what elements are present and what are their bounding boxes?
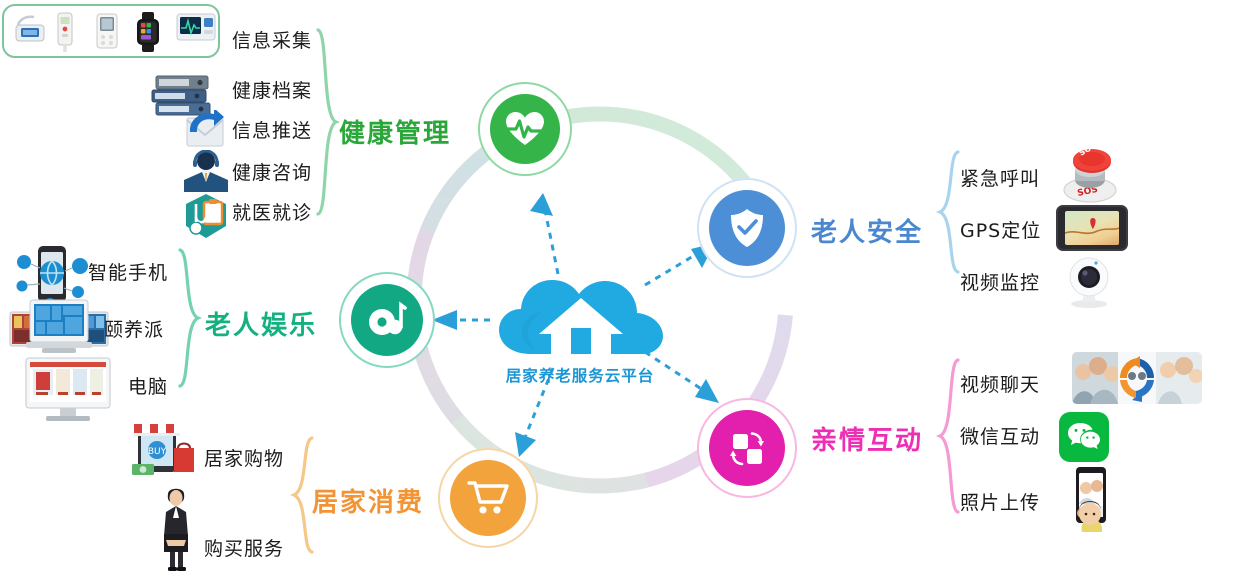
shopping-cart-icon	[450, 460, 526, 536]
exchange-icon	[709, 410, 785, 486]
node-health[interactable]	[478, 82, 572, 176]
online-shop-icon: BUY	[130, 420, 196, 480]
health-item-label-2: 信息推送	[232, 116, 312, 143]
shield-check-icon	[709, 190, 785, 266]
brace-safety	[938, 150, 962, 274]
consumption-item-label-0: 居家购物	[204, 444, 284, 471]
heartbeat-icon	[490, 94, 560, 164]
service-person-icon	[152, 484, 198, 568]
node-family[interactable]	[697, 398, 797, 498]
video-chat-icon	[1072, 352, 1202, 404]
family-item-label-1: 微信互动	[960, 422, 1040, 449]
section-title-health: 健康管理	[339, 113, 451, 150]
node-consumption[interactable]	[438, 448, 538, 548]
smart-watch-icon	[135, 11, 167, 51]
brace-health	[314, 28, 340, 216]
ecg-monitor-icon	[176, 11, 208, 51]
blood-pressure-monitor-icon	[14, 11, 46, 51]
section-title-consumption: 居家消费	[312, 482, 424, 519]
health-item-label-3: 健康咨询	[232, 158, 312, 185]
section-title-safety: 老人安全	[811, 212, 923, 249]
center-platform-label: 居家养老服务云平台	[480, 364, 680, 386]
safety-item-label-1: GPS定位	[960, 216, 1041, 243]
section-title-family: 亲情互动	[811, 420, 923, 457]
gps-map-screen	[1065, 211, 1119, 245]
diagram-canvas: 居家养老服务云平台 健康管理 老人安全	[0, 0, 1237, 571]
gps-device-icon	[1056, 205, 1128, 251]
wechat-icon	[1059, 412, 1109, 462]
entertainment-item-label-2: 电脑	[128, 372, 168, 399]
sos-button-icon: SOS SOS	[1058, 146, 1120, 200]
music-disc-icon	[351, 284, 423, 356]
handheld-monitor-icon	[95, 11, 127, 51]
family-item-label-2: 照片上传	[960, 488, 1040, 515]
cloud-house-icon	[497, 268, 665, 356]
security-camera-icon	[1060, 252, 1116, 308]
collection-device-box	[2, 4, 220, 58]
photo-upload-icon	[1062, 466, 1112, 528]
node-safety[interactable]	[697, 178, 797, 278]
brace-family	[938, 358, 962, 514]
entertainment-item-label-1: 颐养派	[104, 315, 164, 342]
headset-consult-icon	[182, 150, 228, 192]
consumption-item-label-1: 购买服务	[204, 534, 284, 561]
safety-item-label-2: 视频监控	[960, 268, 1040, 295]
tablet-group-icon	[8, 296, 108, 352]
entertainment-item-label-0: 智能手机	[88, 258, 168, 285]
health-item-label-1: 健康档案	[232, 76, 312, 103]
health-item-label-0: 信息采集	[232, 26, 312, 53]
desktop-computer-icon	[24, 356, 108, 418]
section-title-entertainment: 老人娱乐	[205, 305, 317, 342]
family-item-label-0: 视频聊天	[960, 370, 1040, 397]
stethoscope-icon	[182, 192, 228, 238]
svg-text:BUY: BUY	[148, 447, 167, 457]
safety-item-label-0: 紧急呼叫	[960, 164, 1040, 191]
brace-entertainment	[176, 248, 202, 388]
brace-consumption	[290, 436, 316, 554]
node-entertainment[interactable]	[339, 272, 435, 368]
push-message-icon	[184, 110, 224, 150]
glucose-meter-icon	[55, 11, 87, 51]
health-item-label-4: 就医就诊	[232, 198, 312, 225]
